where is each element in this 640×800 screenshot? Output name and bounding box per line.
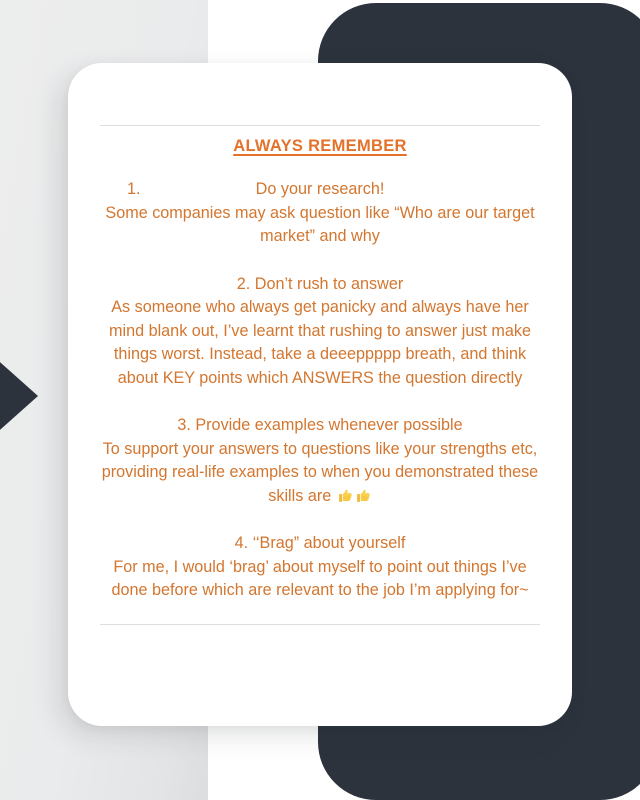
tip-body: As someone who always get panicky and al… <box>100 296 540 390</box>
list-item: 1. Do your research! Some companies may … <box>100 178 540 249</box>
tip-heading: Do your research! <box>256 178 385 202</box>
tip-heading: 2. Don’t rush to answer <box>100 273 540 297</box>
divider-top <box>100 125 540 126</box>
list-item: 3. Provide examples whenever possible To… <box>100 414 540 508</box>
tip-body: Some companies may ask question like “Wh… <box>100 202 540 249</box>
thumbs-up-icon <box>336 487 354 505</box>
tip-heading-row: 1. Do your research! <box>100 178 540 202</box>
tip-number: 1. <box>127 178 141 202</box>
tips-list: 1. Do your research! Some companies may … <box>100 178 540 603</box>
note-card-content: ALWAYS REMEMBER 1. Do your research! Som… <box>100 63 540 726</box>
tip-body-text: To support your answers to questions lik… <box>102 440 538 505</box>
list-item: 2. Don’t rush to answer As someone who a… <box>100 273 540 391</box>
spacer <box>100 603 540 624</box>
page-title: ALWAYS REMEMBER <box>100 137 540 156</box>
thumbs-up-icon-2 <box>354 487 372 505</box>
tip-heading: 4. ‘‘Brag” about yourself <box>100 532 540 556</box>
list-item: 4. ‘‘Brag” about yourself For me, I woul… <box>100 532 540 603</box>
tip-body: For me, I would ‘brag’ about myself to p… <box>100 556 540 603</box>
divider-bottom <box>100 624 540 625</box>
tip-body: To support your answers to questions lik… <box>100 438 540 509</box>
note-card: ALWAYS REMEMBER 1. Do your research! Som… <box>68 63 572 726</box>
tip-heading: 3. Provide examples whenever possible <box>100 414 540 438</box>
